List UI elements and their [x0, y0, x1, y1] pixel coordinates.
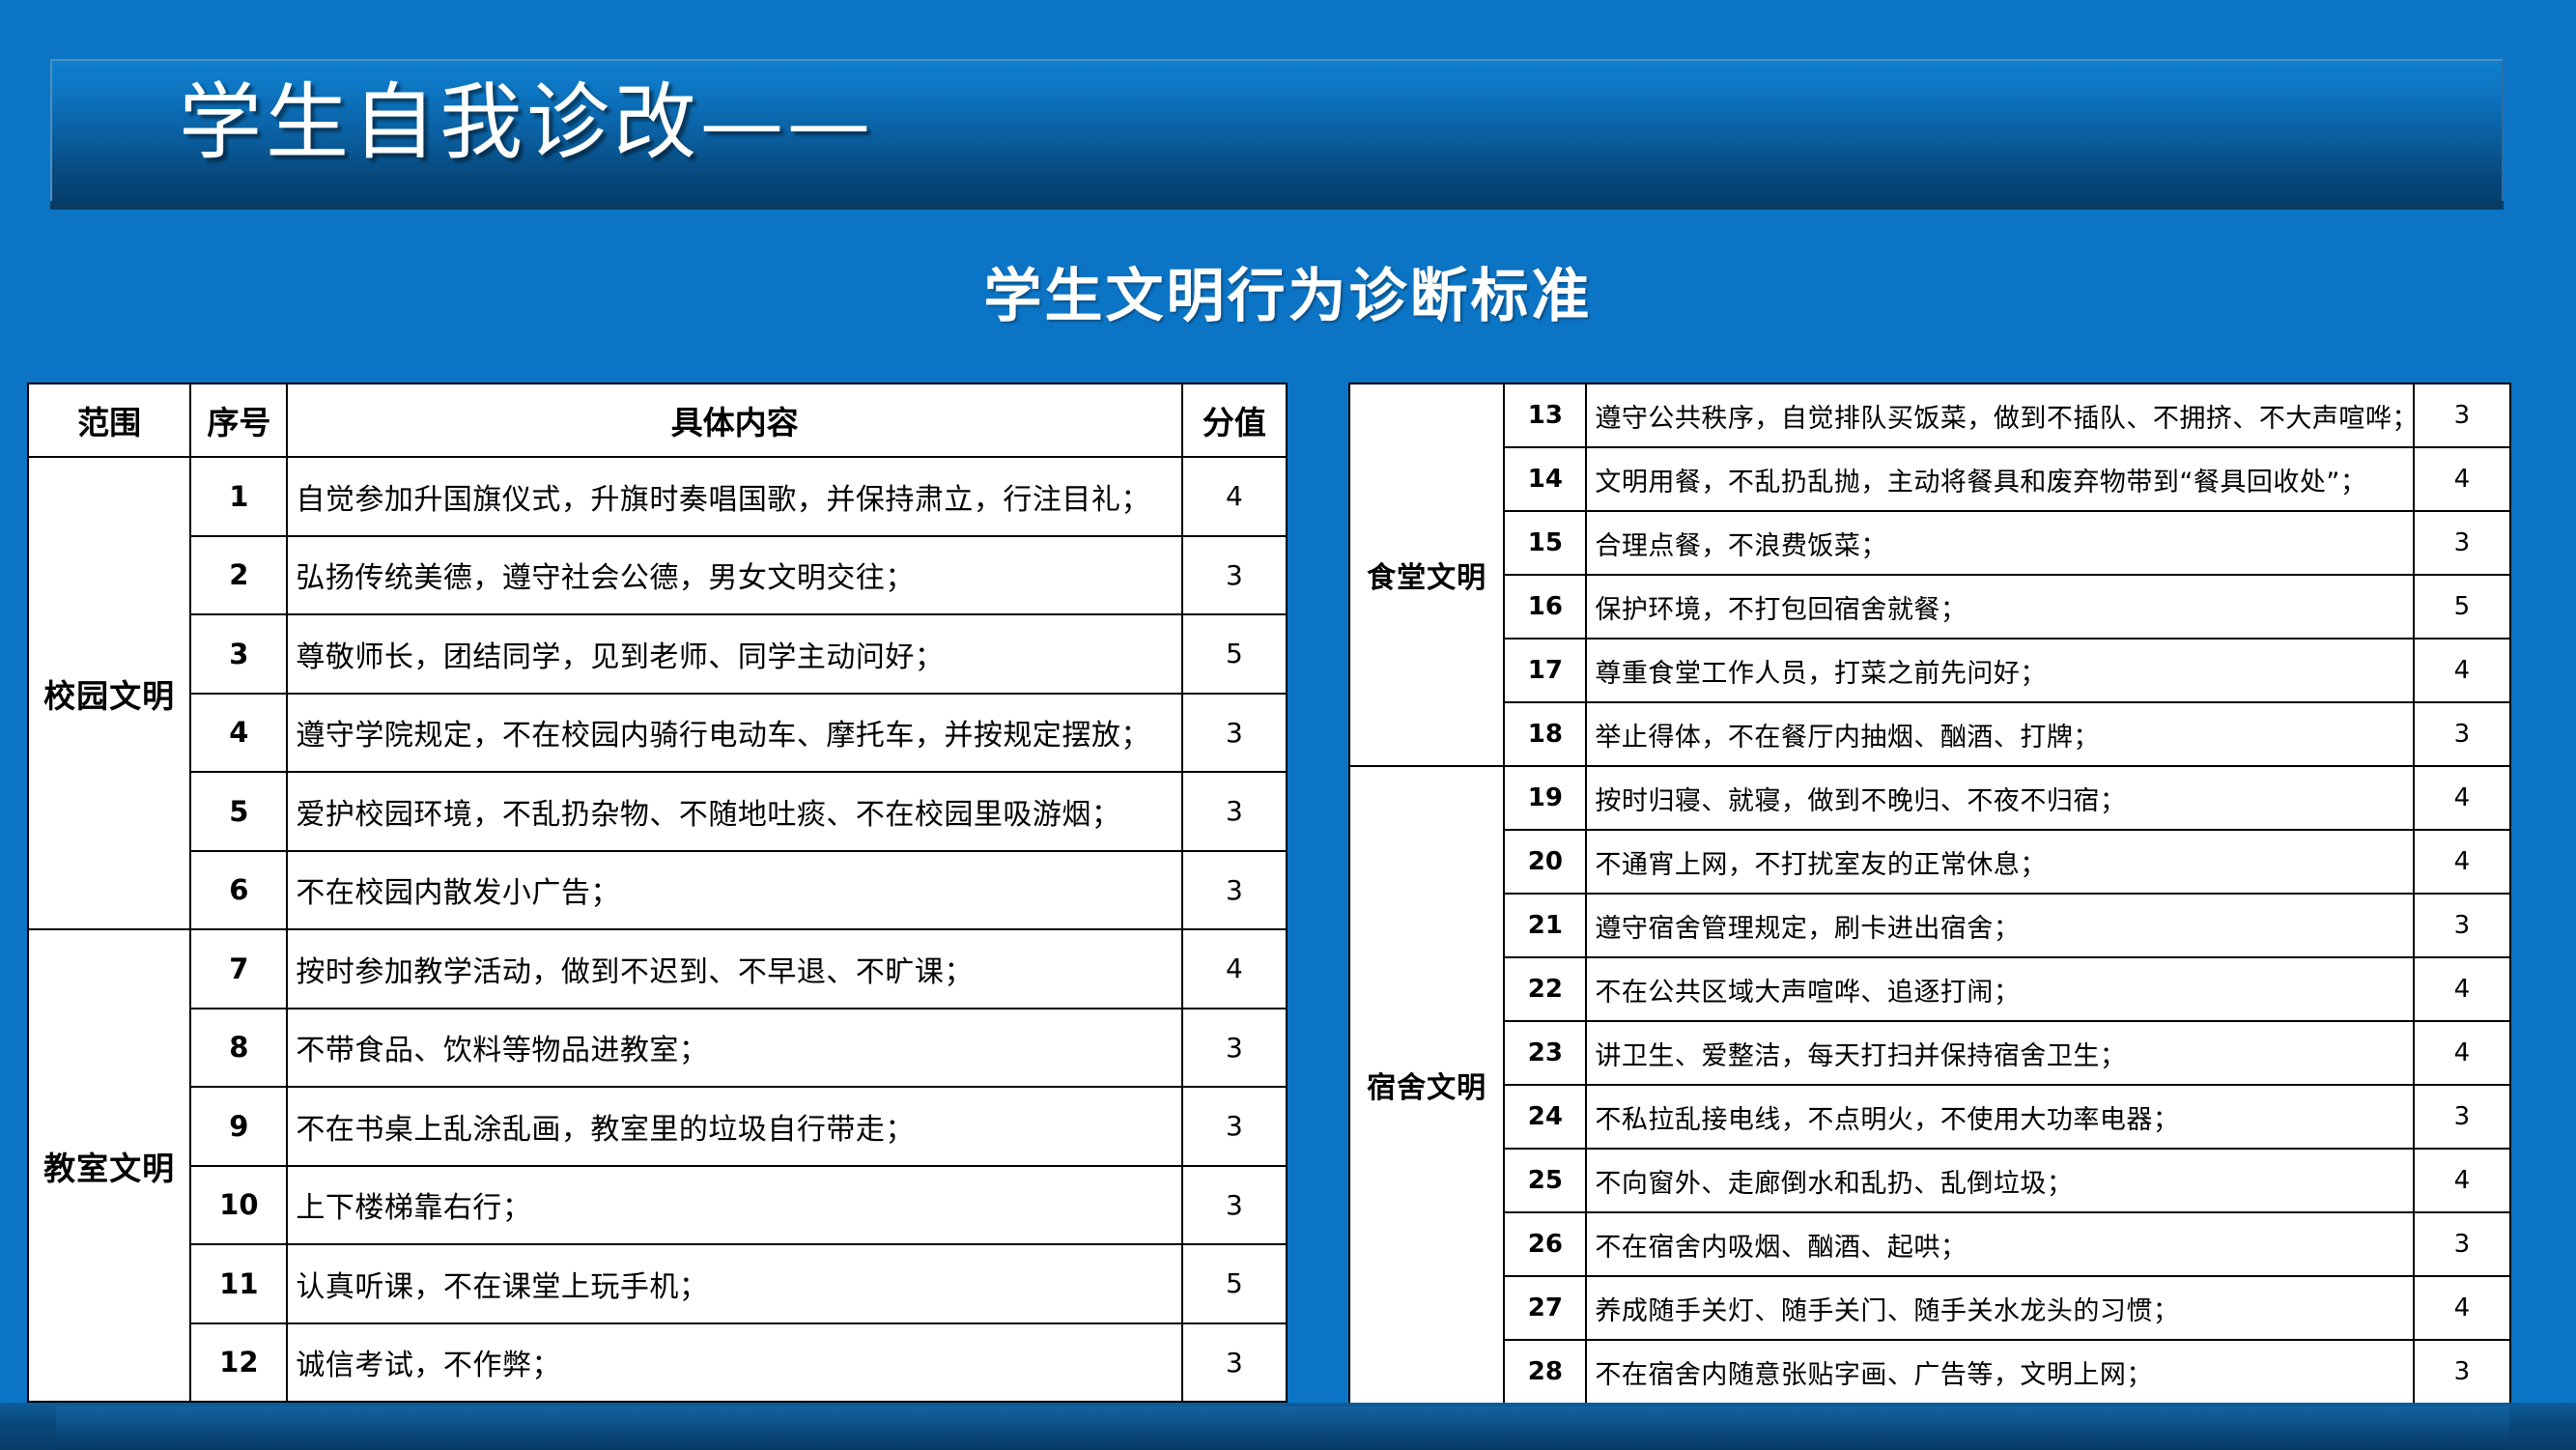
- content-cell: 爱护校园环境，不乱扔杂物、不随地吐痰、不在校园里吸游烟；: [287, 772, 1181, 851]
- table-row: 17尊重食堂工作人员，打菜之前先问好；4: [1349, 639, 2510, 702]
- content-cell: 尊重食堂工作人员，打菜之前先问好；: [1586, 639, 2413, 702]
- index-cell: 12: [190, 1323, 287, 1403]
- table-row: 22不在公共区域大声喧哗、追逐打闹；4: [1349, 957, 2510, 1021]
- content-cell: 文明用餐，不乱扔乱抛，主动将餐具和废弃物带到“餐具回收处”；: [1586, 447, 2413, 511]
- index-cell: 21: [1504, 894, 1586, 957]
- score-cell: 4: [2414, 447, 2510, 511]
- table-row: 24不私拉乱接电线，不点明火，不使用大功率电器；3: [1349, 1085, 2510, 1149]
- title-banner-underline: [50, 201, 2504, 210]
- score-cell: 4: [1182, 929, 1287, 1009]
- content-cell: 弘扬传统美德，遵守社会公德，男女文明交往；: [287, 536, 1181, 615]
- scope-cell: 校园文明: [28, 457, 190, 929]
- content-cell: 不在校园内散发小广告；: [287, 851, 1181, 930]
- content-cell: 尊敬师长，团结同学，见到老师、同学主动问好；: [287, 614, 1181, 694]
- score-cell: 3: [2414, 702, 2510, 766]
- score-cell: 3: [1182, 1166, 1287, 1245]
- table-row: 16保护环境，不打包回宿舍就餐；5: [1349, 575, 2510, 639]
- index-cell: 23: [1504, 1021, 1586, 1085]
- table-row: 28不在宿舍内随意张贴字画、广告等，文明上网；3: [1349, 1340, 2510, 1404]
- score-cell: 3: [2414, 1212, 2510, 1276]
- left-table-frame: 范围 序号 具体内容 分值 校园文明1自觉参加升国旗仪式，升旗时奏唱国歌，并保持…: [27, 383, 1288, 1403]
- table-row: 27养成随手关灯、随手关门、随手关水龙头的习惯；4: [1349, 1276, 2510, 1340]
- score-cell: 4: [1182, 457, 1287, 536]
- content-cell: 不向窗外、走廊倒水和乱扔、乱倒垃圾；: [1586, 1149, 2413, 1212]
- content-cell: 不在宿舍内吸烟、酗酒、起哄；: [1586, 1212, 2413, 1276]
- table-row: 23讲卫生、爱整洁，每天打扫并保持宿舍卫生；4: [1349, 1021, 2510, 1085]
- footer-strip-inner: [56, 1407, 2509, 1450]
- index-cell: 16: [1504, 575, 1586, 639]
- table-row: 2弘扬传统美德，遵守社会公德，男女文明交往；3: [28, 536, 1287, 615]
- score-cell: 3: [2414, 1340, 2510, 1404]
- score-cell: 4: [2414, 830, 2510, 894]
- subtitle-heading: 学生文明行为诊断标准: [0, 249, 2576, 333]
- index-cell: 3: [190, 614, 287, 694]
- index-cell: 7: [190, 929, 287, 1009]
- index-cell: 13: [1504, 384, 1586, 447]
- index-cell: 24: [1504, 1085, 1586, 1149]
- content-cell: 合理点餐，不浪费饭菜；: [1586, 511, 2413, 575]
- score-cell: 4: [2414, 1021, 2510, 1085]
- content-cell: 按时参加教学活动，做到不迟到、不早退、不旷课；: [287, 929, 1181, 1009]
- table-row: 20不通宵上网，不打扰室友的正常休息；4: [1349, 830, 2510, 894]
- score-cell: 3: [1182, 1087, 1287, 1166]
- table-row: 食堂文明13遵守公共秩序，自觉排队买饭菜，做到不插队、不拥挤、不大声喧哗；3: [1349, 384, 2510, 447]
- index-cell: 14: [1504, 447, 1586, 511]
- header-scope: 范围: [28, 384, 190, 457]
- table-row: 26不在宿舍内吸烟、酗酒、起哄；3: [1349, 1212, 2510, 1276]
- table-row: 校园文明1自觉参加升国旗仪式，升旗时奏唱国歌，并保持肃立，行注目礼；4: [28, 457, 1287, 536]
- content-cell: 不在宿舍内随意张贴字画、广告等，文明上网；: [1586, 1340, 2413, 1404]
- table-row: 18举止得体，不在餐厅内抽烟、酗酒、打牌；3: [1349, 702, 2510, 766]
- score-cell: 3: [2414, 1085, 2510, 1149]
- table-row: 9不在书桌上乱涂乱画，教室里的垃圾自行带走；3: [28, 1087, 1287, 1166]
- score-cell: 4: [2414, 766, 2510, 830]
- table-row: 21遵守宿舍管理规定，刷卡进出宿舍；3: [1349, 894, 2510, 957]
- score-cell: 3: [1182, 1323, 1287, 1403]
- index-cell: 15: [1504, 511, 1586, 575]
- index-cell: 9: [190, 1087, 287, 1166]
- score-cell: 4: [2414, 1276, 2510, 1340]
- table-row: 14文明用餐，不乱扔乱抛，主动将餐具和废弃物带到“餐具回收处”；4: [1349, 447, 2510, 511]
- content-cell: 认真听课，不在课堂上玩手机；: [287, 1244, 1181, 1323]
- content-cell: 不在书桌上乱涂乱画，教室里的垃圾自行带走；: [287, 1087, 1181, 1166]
- header-score: 分值: [1182, 384, 1287, 457]
- score-cell: 3: [2414, 894, 2510, 957]
- table-row: 6不在校园内散发小广告；3: [28, 851, 1287, 930]
- index-cell: 27: [1504, 1276, 1586, 1340]
- index-cell: 28: [1504, 1340, 1586, 1404]
- table-row: 25不向窗外、走廊倒水和乱扔、乱倒垃圾；4: [1349, 1149, 2510, 1212]
- right-table-frame: 食堂文明13遵守公共秩序，自觉排队买饭菜，做到不插队、不拥挤、不大声喧哗；314…: [1348, 383, 2511, 1403]
- score-cell: 3: [2414, 384, 2510, 447]
- table-row: 教室文明7按时参加教学活动，做到不迟到、不早退、不旷课；4: [28, 929, 1287, 1009]
- right-table-body: 食堂文明13遵守公共秩序，自觉排队买饭菜，做到不插队、不拥挤、不大声喧哗；314…: [1349, 384, 2510, 1404]
- index-cell: 4: [190, 694, 287, 773]
- index-cell: 10: [190, 1166, 287, 1245]
- index-cell: 11: [190, 1244, 287, 1323]
- index-cell: 2: [190, 536, 287, 615]
- content-cell: 按时归寝、就寝，做到不晚归、不夜不归宿；: [1586, 766, 2413, 830]
- content-cell: 遵守公共秩序，自觉排队买饭菜，做到不插队、不拥挤、不大声喧哗；: [1586, 384, 2413, 447]
- header-content: 具体内容: [287, 384, 1181, 457]
- scope-cell: 教室文明: [28, 929, 190, 1402]
- table-row: 8不带食品、饮料等物品进教室；3: [28, 1009, 1287, 1088]
- scope-cell: 食堂文明: [1349, 384, 1504, 766]
- score-cell: 5: [1182, 1244, 1287, 1323]
- content-cell: 遵守学院规定，不在校园内骑行电动车、摩托车，并按规定摆放；: [287, 694, 1181, 773]
- score-cell: 5: [2414, 575, 2510, 639]
- index-cell: 18: [1504, 702, 1586, 766]
- table-row: 15合理点餐，不浪费饭菜；3: [1349, 511, 2510, 575]
- header-index: 序号: [190, 384, 287, 457]
- score-cell: 4: [2414, 1149, 2510, 1212]
- score-cell: 3: [1182, 1009, 1287, 1088]
- index-cell: 17: [1504, 639, 1586, 702]
- content-cell: 不私拉乱接电线，不点明火，不使用大功率电器；: [1586, 1085, 2413, 1149]
- table-row: 5爱护校园环境，不乱扔杂物、不随地吐痰、不在校园里吸游烟；3: [28, 772, 1287, 851]
- index-cell: 20: [1504, 830, 1586, 894]
- content-cell: 遵守宿舍管理规定，刷卡进出宿舍；: [1586, 894, 2413, 957]
- scope-cell: 宿舍文明: [1349, 766, 1504, 1404]
- score-cell: 3: [2414, 511, 2510, 575]
- table-row: 12诚信考试，不作弊；3: [28, 1323, 1287, 1403]
- content-cell: 不带食品、饮料等物品进教室；: [287, 1009, 1181, 1088]
- score-cell: 5: [1182, 614, 1287, 694]
- content-cell: 自觉参加升国旗仪式，升旗时奏唱国歌，并保持肃立，行注目礼；: [287, 457, 1181, 536]
- table-row: 4遵守学院规定，不在校园内骑行电动车、摩托车，并按规定摆放；3: [28, 694, 1287, 773]
- score-cell: 3: [1182, 536, 1287, 615]
- content-cell: 讲卫生、爱整洁，每天打扫并保持宿舍卫生；: [1586, 1021, 2413, 1085]
- index-cell: 25: [1504, 1149, 1586, 1212]
- index-cell: 5: [190, 772, 287, 851]
- table-header-row: 范围 序号 具体内容 分值: [28, 384, 1287, 457]
- table-row: 3尊敬师长，团结同学，见到老师、同学主动问好；5: [28, 614, 1287, 694]
- score-cell: 3: [1182, 772, 1287, 851]
- index-cell: 8: [190, 1009, 287, 1088]
- slide-canvas: 学生自我诊改—— 学生文明行为诊断标准 范围 序号 具体内容 分值 校园文明1自…: [0, 0, 2576, 1450]
- content-cell: 诚信考试，不作弊；: [287, 1323, 1181, 1403]
- index-cell: 26: [1504, 1212, 1586, 1276]
- score-cell: 3: [1182, 694, 1287, 773]
- index-cell: 19: [1504, 766, 1586, 830]
- page-title: 学生自我诊改——: [179, 73, 874, 173]
- content-cell: 不在公共区域大声喧哗、追逐打闹；: [1586, 957, 2413, 1021]
- index-cell: 6: [190, 851, 287, 930]
- content-cell: 上下楼梯靠右行；: [287, 1166, 1181, 1245]
- score-cell: 4: [2414, 639, 2510, 702]
- table-row: 宿舍文明19按时归寝、就寝，做到不晚归、不夜不归宿；4: [1349, 766, 2510, 830]
- table-row: 10上下楼梯靠右行；3: [28, 1166, 1287, 1245]
- content-cell: 养成随手关灯、随手关门、随手关水龙头的习惯；: [1586, 1276, 2413, 1340]
- score-cell: 4: [2414, 957, 2510, 1021]
- index-cell: 1: [190, 457, 287, 536]
- criteria-table-right: 食堂文明13遵守公共秩序，自觉排队买饭菜，做到不插队、不拥挤、不大声喧哗；314…: [1348, 383, 2511, 1405]
- content-cell: 举止得体，不在餐厅内抽烟、酗酒、打牌；: [1586, 702, 2413, 766]
- score-cell: 3: [1182, 851, 1287, 930]
- index-cell: 22: [1504, 957, 1586, 1021]
- table-row: 11认真听课，不在课堂上玩手机；5: [28, 1244, 1287, 1323]
- criteria-table-left: 范围 序号 具体内容 分值 校园文明1自觉参加升国旗仪式，升旗时奏唱国歌，并保持…: [27, 383, 1288, 1403]
- content-cell: 不通宵上网，不打扰室友的正常休息；: [1586, 830, 2413, 894]
- left-table-body: 校园文明1自觉参加升国旗仪式，升旗时奏唱国歌，并保持肃立，行注目礼；42弘扬传统…: [28, 457, 1287, 1402]
- content-cell: 保护环境，不打包回宿舍就餐；: [1586, 575, 2413, 639]
